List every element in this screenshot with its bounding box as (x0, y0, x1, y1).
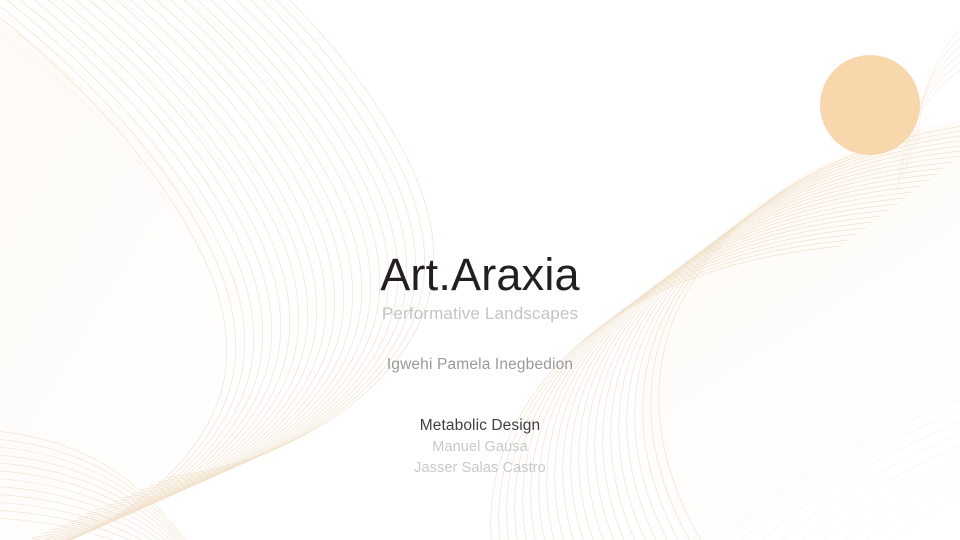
author-name: Igwehi Pamela Inegbedion (130, 355, 830, 374)
credit-person: Manuel Gausa (130, 437, 830, 458)
credits-heading: Metabolic Design (130, 416, 830, 437)
title-slide: Art.Araxia Performative Landscapes Igweh… (0, 0, 960, 540)
credits-block: Metabolic Design Manuel Gausa Jasser Sal… (130, 416, 830, 478)
author-block: Igwehi Pamela Inegbedion (130, 355, 830, 374)
page-title: Art.Araxia (130, 252, 830, 298)
slide-content: Art.Araxia Performative Landscapes Igweh… (0, 0, 960, 540)
title-block: Art.Araxia Performative Landscapes (130, 252, 830, 324)
page-subtitle: Performative Landscapes (130, 304, 830, 324)
credit-person: Jasser Salas Castro (130, 458, 830, 479)
